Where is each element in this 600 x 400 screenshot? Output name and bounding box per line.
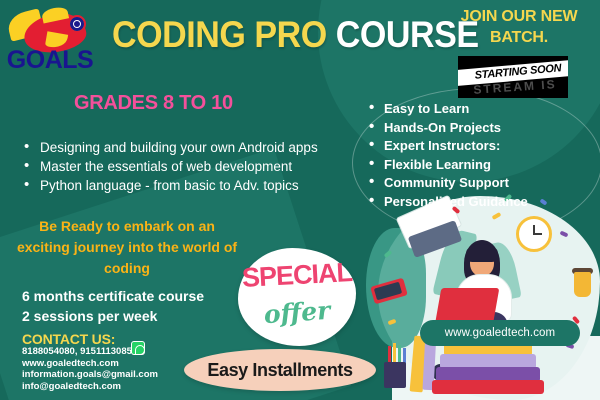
easy-installments-badge: Easy Installments — [184, 349, 376, 391]
starting-soon-badge: STREAM IS STARTING SOON — [458, 56, 568, 98]
list-item: Personalised Guidance — [366, 193, 596, 212]
list-item: Python language - from basic to Adv. top… — [20, 176, 340, 195]
pen-holder-icon — [384, 362, 406, 388]
coffee-cup-icon — [574, 272, 591, 297]
duration-line-1: 6 months certificate course — [22, 286, 204, 306]
person-hair-front — [466, 244, 498, 262]
list-item: Flexible Learning — [366, 156, 596, 175]
list-item: Hands-On Projects — [366, 119, 596, 138]
pen-icon — [393, 343, 396, 364]
contact-email-2[interactable]: info@goaledtech.com — [22, 381, 158, 393]
contact-heading: CONTACT US: — [22, 331, 115, 347]
contact-email-1[interactable]: information.goals@gmail.com — [22, 369, 158, 381]
brand-name: GOALS — [2, 46, 98, 75]
grades-label: GRADES 8 TO 10 — [74, 92, 233, 115]
contact-website[interactable]: www.goaledtech.com — [22, 358, 158, 370]
list-item: Master the essentials of web development — [20, 157, 340, 176]
features-list: Easy to Learn Hands-On Projects Expert I… — [366, 100, 596, 211]
promotional-flyer: GOALS CODING PRO COURSE JOIN OUR NEW BAT… — [0, 0, 600, 400]
list-item: Expert Instructors: — [366, 137, 596, 156]
special-offer-badge: SPECIAL offer — [238, 248, 356, 346]
special-offer-word-1: SPECIAL — [237, 257, 356, 294]
list-item: Designing and building your own Android … — [20, 138, 340, 157]
list-item: Easy to Learn — [366, 100, 596, 119]
book-stack-item — [432, 380, 544, 394]
duration-line-2: 2 sessions per week — [22, 306, 204, 326]
clock-minute-hand-icon — [533, 233, 542, 235]
website-pill-label: www.goaledtech.com — [445, 327, 555, 339]
join-batch-headline: JOIN OUR NEW BATCH. — [440, 6, 598, 48]
be-ready-message: Be Ready to embark on an exciting journe… — [12, 216, 242, 279]
course-duration: 6 months certificate course 2 sessions p… — [22, 286, 204, 326]
page-title: CODING PRO COURSE — [112, 14, 479, 56]
easy-installments-label: Easy Installments — [207, 360, 352, 381]
fish-logo-pupil — [74, 21, 80, 27]
curriculum-list: Designing and building your own Android … — [20, 138, 340, 195]
title-primary: CODING PRO — [112, 14, 327, 55]
list-item: Community Support — [366, 174, 596, 193]
whatsapp-icon[interactable] — [131, 341, 145, 355]
website-pill[interactable]: www.goaledtech.com — [420, 320, 580, 346]
